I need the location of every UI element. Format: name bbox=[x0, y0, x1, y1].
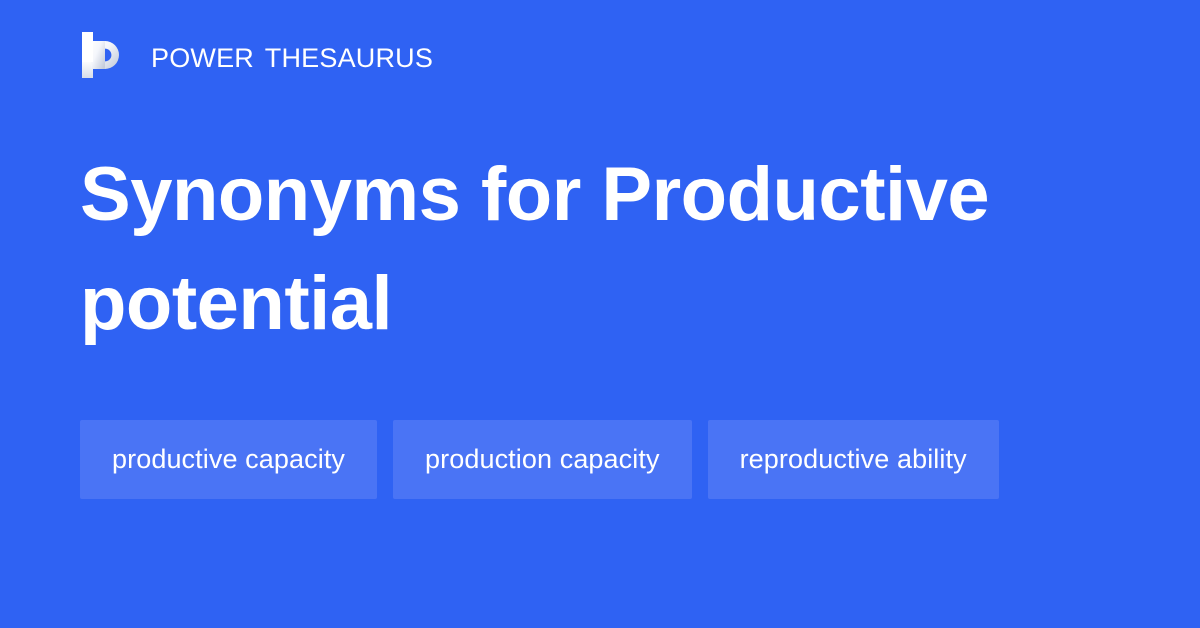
brand-name: power thesaurus bbox=[151, 36, 433, 74]
brand-header[interactable]: power thesaurus bbox=[80, 29, 433, 81]
synonym-chip[interactable]: productive capacity bbox=[80, 420, 377, 499]
synonym-chip[interactable]: production capacity bbox=[393, 420, 692, 499]
synonym-chip[interactable]: reproductive ability bbox=[708, 420, 999, 499]
power-thesaurus-logo-icon bbox=[80, 30, 130, 80]
synonym-chip-list: productive capacity production capacity … bbox=[80, 420, 1120, 499]
page-title: Synonyms for Productive potential bbox=[80, 140, 1120, 359]
share-card: power thesaurus Synonyms for Productive … bbox=[0, 0, 1200, 628]
